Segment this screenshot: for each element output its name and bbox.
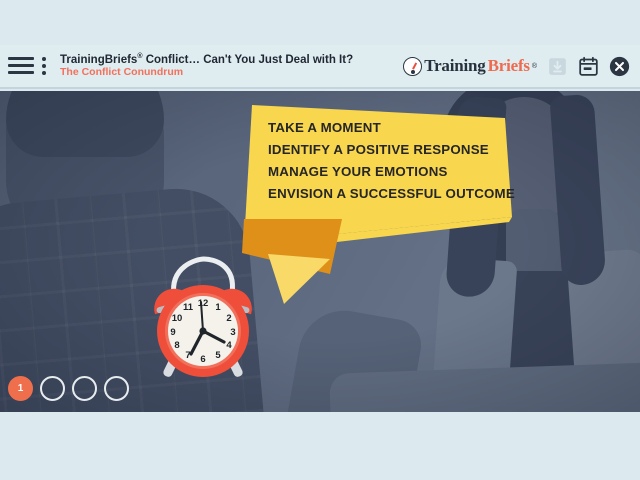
trainingbriefs-logo: TrainingBriefs® — [403, 56, 537, 76]
svg-text:5: 5 — [215, 350, 221, 361]
svg-text:12: 12 — [198, 298, 209, 309]
pagination-dot-4[interactable] — [104, 376, 129, 401]
svg-text:1: 1 — [215, 302, 221, 313]
bubble-line-2: IDENTIFY A POSITIVE RESPONSE — [268, 139, 528, 161]
bubble-line-4: ENVISION A SUCCESSFUL OUTCOME — [268, 183, 528, 205]
svg-text:8: 8 — [174, 340, 179, 351]
close-icon[interactable] — [609, 56, 630, 77]
brand-registered-mark: ® — [532, 63, 537, 70]
speech-bubble: TAKE A MOMENT IDENTIFY A POSITIVE RESPON… — [222, 91, 522, 331]
slide-stage: 12 1 2 3 4 5 6 7 8 9 10 11 — [0, 91, 640, 412]
svg-text:4: 4 — [226, 340, 232, 351]
course-subtitle: The Conflict Conundrum — [60, 67, 353, 79]
kebab-dot — [42, 64, 46, 68]
course-player: TrainingBriefs® Conflict… Can't You Just… — [0, 0, 640, 480]
svg-text:10: 10 — [172, 313, 183, 324]
hamburger-line — [8, 71, 34, 74]
kebab-menu-icon[interactable] — [37, 57, 51, 75]
notes-icon[interactable] — [578, 56, 599, 77]
svg-text:11: 11 — [183, 302, 194, 313]
header-right-group: TrainingBriefs® — [403, 56, 640, 77]
slide-pagination: 1 — [8, 376, 129, 401]
speedometer-icon — [403, 57, 422, 76]
player-footer-area — [0, 412, 640, 480]
course-title-rest: Conflict… Can't You Just Deal with It? — [143, 54, 354, 66]
brand-word-briefs: Briefs — [488, 56, 530, 76]
svg-text:6: 6 — [200, 354, 205, 365]
pagination-dot-1[interactable]: 1 — [8, 376, 33, 401]
title-block: TrainingBriefs® Conflict… Can't You Just… — [60, 53, 353, 79]
svg-text:9: 9 — [170, 327, 175, 338]
header-left-group: TrainingBriefs® Conflict… Can't You Just… — [0, 53, 353, 79]
player-header: TrainingBriefs® Conflict… Can't You Just… — [0, 45, 640, 89]
brand-word-training: Training — [424, 56, 485, 76]
kebab-dot — [42, 71, 46, 75]
course-title: TrainingBriefs® Conflict… Can't You Just… — [60, 53, 353, 67]
pagination-dot-3[interactable] — [72, 376, 97, 401]
pagination-dot-2[interactable] — [40, 376, 65, 401]
hamburger-line — [8, 57, 34, 60]
svg-text:7: 7 — [185, 350, 190, 361]
kebab-dot — [42, 57, 46, 61]
course-title-brand: TrainingBriefs — [60, 54, 137, 66]
hamburger-icon[interactable] — [8, 57, 34, 74]
speech-bubble-text: TAKE A MOMENT IDENTIFY A POSITIVE RESPON… — [268, 117, 528, 205]
hamburger-line — [8, 64, 34, 67]
download-icon[interactable] — [547, 56, 568, 77]
bubble-line-1: TAKE A MOMENT — [268, 117, 528, 139]
bubble-line-3: MANAGE YOUR EMOTIONS — [268, 161, 528, 183]
